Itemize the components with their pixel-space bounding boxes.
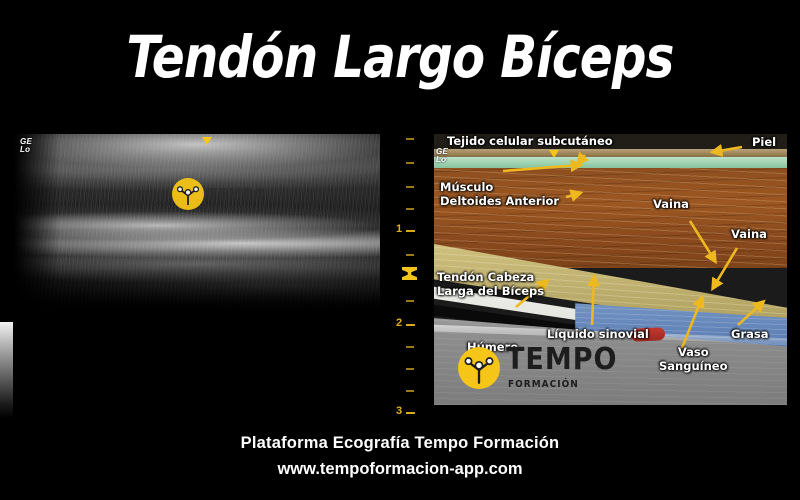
label-musculo-line2: Deltoides Anterior (440, 194, 559, 208)
label-vaina-2: Vaina (731, 228, 767, 241)
arrow-tejido-subcutaneo (503, 165, 580, 171)
label-musculo-deltoides: Músculo Deltoides Anterior (440, 180, 559, 208)
label-grasa: Grasa (731, 328, 768, 341)
label-vaso-sanguineo: Vaso Sanguíneo (659, 345, 727, 373)
label-tendon-line2: Larga del Bíceps (437, 284, 544, 298)
arrow-vaina-1 (690, 221, 715, 261)
label-tejido-celular-subcutaneo: Tejido celular subcutáneo (447, 135, 613, 148)
tempo-logo-wordmark: TEMPO (208, 187, 266, 202)
label-vaina-1: Vaina (653, 198, 689, 211)
arrow-grasa (738, 302, 763, 325)
tempo-watermark-logo: TEMPO (172, 178, 266, 210)
arrow-vaina-2 (713, 248, 737, 288)
tempo-logo: TEMPO FORMACIÓN (458, 345, 617, 390)
label-liquido-sinovial: Líquido sinovial (547, 328, 649, 341)
label-vaso-line1: Vaso (659, 345, 727, 359)
arrow-liquido (592, 277, 594, 325)
arrow-piel-2 (713, 147, 742, 152)
tempo-logo-subtext: FORMACIÓN (508, 380, 617, 390)
label-tendon-line1: Tendón Cabeza (437, 270, 544, 284)
label-piel: Piel (752, 136, 776, 149)
arrow-piel (578, 155, 585, 163)
annotation-arrows (0, 0, 800, 500)
arrow-musculo (566, 193, 580, 197)
label-tendon-cabeza-larga: Tendón Cabeza Larga del Bíceps (437, 270, 544, 298)
tempo-logo-mark-icon (172, 178, 204, 210)
label-musculo-line1: Músculo (440, 180, 559, 194)
tempo-logo-wordmark: TEMPO (506, 345, 617, 375)
arrow-vaso (682, 298, 702, 348)
label-vaso-line2: Sanguíneo (659, 359, 727, 373)
tempo-logo-mark-icon (458, 347, 500, 389)
